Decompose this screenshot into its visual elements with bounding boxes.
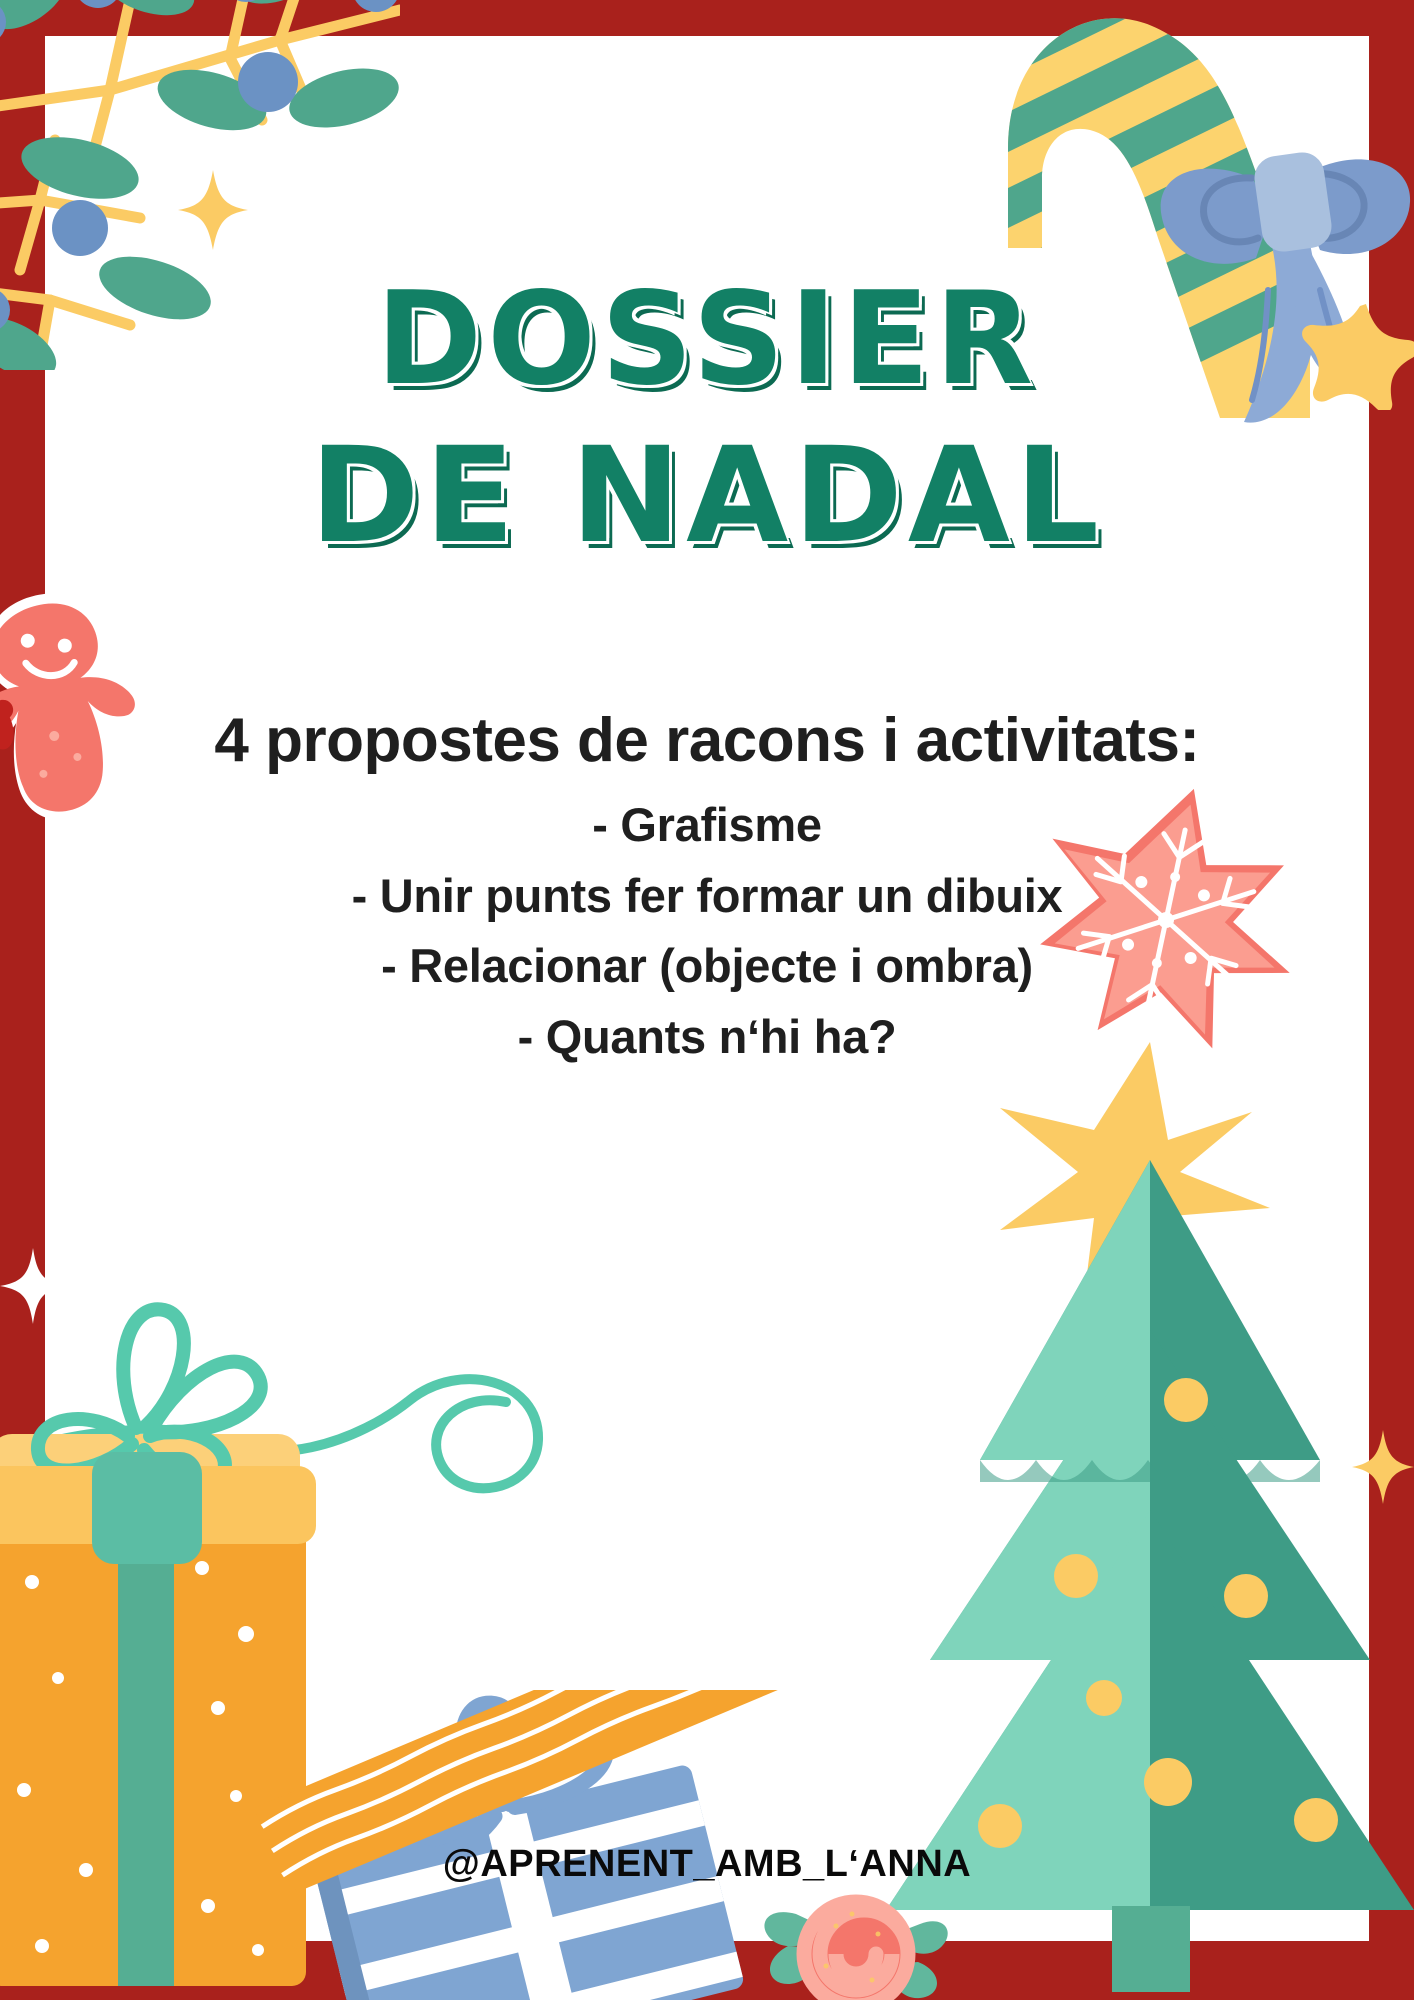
- list-item: - Quants n‘hi ha?: [0, 1002, 1414, 1073]
- list-item: - Relacionar (objecte i ombra): [0, 931, 1414, 1002]
- title-line-1: DOSSIER: [0, 276, 1414, 404]
- author-handle: @APRENENT_AMB_L‘ANNA: [0, 1843, 1414, 1886]
- list-item: - Unir punts fer formar un dibuix: [0, 861, 1414, 932]
- activity-list: - Grafisme - Unir punts fer formar un di…: [0, 790, 1414, 1072]
- poster-canvas: DOSSIER DE NADAL 4 propostes de racons i…: [0, 0, 1414, 2000]
- page-headline: 4 propostes de racons i activitats:: [0, 705, 1414, 776]
- list-item: - Grafisme: [0, 790, 1414, 861]
- poster-title: DOSSIER DE NADAL: [0, 276, 1414, 562]
- title-line-2: DE NADAL: [0, 430, 1414, 562]
- poster-content: DOSSIER DE NADAL 4 propostes de racons i…: [0, 0, 1414, 2000]
